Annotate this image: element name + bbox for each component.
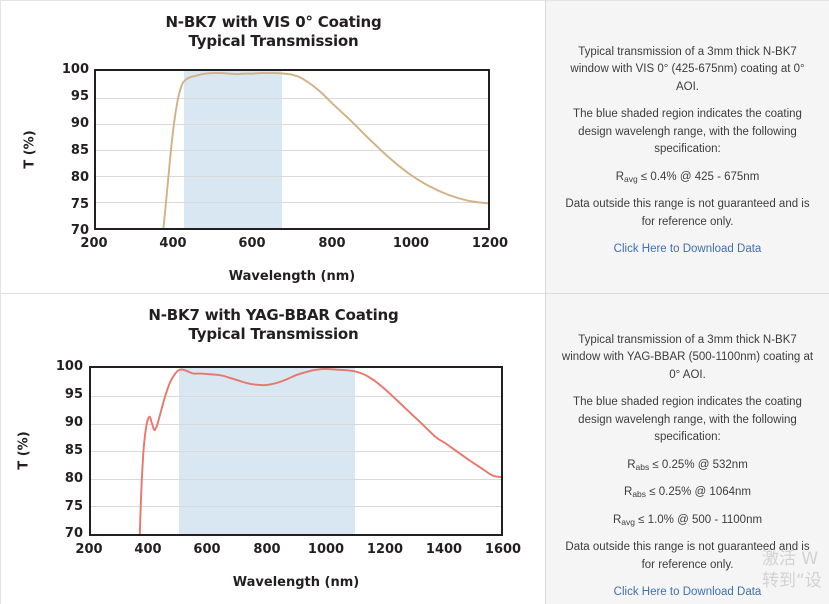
x-axis-label: Wavelength (nm) [89,575,503,590]
description-paragraph-3: Data outside this range is not guarantee… [560,539,815,574]
spec-subscript: avg [621,517,635,527]
xtick-label: 1200 [460,236,520,251]
xtick-label: 1000 [296,542,356,557]
chart-panel-vis: N-BK7 with VIS 0° Coating Typical Transm… [0,0,545,293]
xtick-label: 1200 [355,542,415,557]
spec-symbol: R [613,514,621,526]
spec-line: Rabs ≤ 0.25% @ 532nm [560,457,815,474]
description-paragraph-1: Typical transmission of a 3mm thick N-BK… [560,332,815,384]
spec-block: Rabs ≤ 0.25% @ 532nm Rabs ≤ 0.25% @ 1064… [560,457,815,529]
transmission-curve-vis [96,71,488,228]
y-axis-label: T (%) [23,120,38,180]
description-paragraph-1: Typical transmission of a 3mm thick N-BK… [560,44,815,96]
ytick-label: 85 [43,443,83,458]
xtick-label: 600 [222,236,282,251]
xtick-label: 1400 [414,542,474,557]
plot-area-vis [94,69,490,230]
spec-symbol: R [616,171,624,183]
ytick-label: 100 [43,359,83,374]
description-panel-yag: Typical transmission of a 3mm thick N-BK… [545,293,829,604]
ytick-label: 70 [43,526,83,541]
ytick-label: 100 [49,62,89,77]
chart-title-line1: N-BK7 with VIS 0° Coating [1,13,546,32]
spec-line: Rabs ≤ 0.25% @ 1064nm [560,484,815,501]
ytick-label: 90 [49,116,89,131]
spec-value: ≤ 0.4% @ 425 - 675nm [638,171,760,183]
xtick-label: 400 [143,236,203,251]
spec-value: ≤ 0.25% @ 532nm [649,459,748,471]
xtick-label: 400 [118,542,178,557]
chart-title-line1: N-BK7 with YAG-BBAR Coating [1,306,546,325]
ytick-label: 95 [49,89,89,104]
ytick-label: 95 [43,387,83,402]
panel-row-vis: N-BK7 with VIS 0° Coating Typical Transm… [0,0,829,293]
chart-title-yag: N-BK7 with YAG-BBAR Coating Typical Tran… [1,306,546,344]
spec-line: Ravg ≤ 1.0% @ 500 - 1100nm [560,512,815,529]
ytick-label: 90 [43,415,83,430]
spec-line: Ravg ≤ 0.4% @ 425 - 675nm [560,169,815,186]
xtick-label: 600 [177,542,237,557]
spec-value: ≤ 1.0% @ 500 - 1100nm [635,514,762,526]
chart-title-line2: Typical Transmission [1,325,546,344]
spec-value: ≤ 0.25% @ 1064nm [646,486,751,498]
download-data-link[interactable]: Click Here to Download Data [614,586,762,598]
description-paragraph-2: The blue shaded region indicates the coa… [560,106,815,158]
panel-row-yag: N-BK7 with YAG-BBAR Coating Typical Tran… [0,293,829,604]
spec-block: Ravg ≤ 0.4% @ 425 - 675nm [560,169,815,186]
ytick-label: 75 [43,499,83,514]
xtick-label: 1600 [473,542,533,557]
description-paragraph-3: Data outside this range is not guarantee… [560,196,815,231]
chart-panel-yag: N-BK7 with YAG-BBAR Coating Typical Tran… [0,293,545,604]
description-text-vis: Typical transmission of a 3mm thick N-BK… [560,44,815,259]
xtick-label: 200 [59,542,119,557]
xtick-label: 200 [64,236,124,251]
ytick-label: 80 [49,170,89,185]
description-panel-vis: Typical transmission of a 3mm thick N-BK… [545,0,829,293]
download-data-link[interactable]: Click Here to Download Data [614,243,762,255]
ytick-label: 75 [49,197,89,212]
spec-subscript: abs [636,462,650,472]
chart-title-line2: Typical Transmission [1,32,546,51]
ytick-label: 80 [43,471,83,486]
ytick-label: 85 [49,143,89,158]
description-text-yag: Typical transmission of a 3mm thick N-BK… [560,332,815,602]
spec-subscript: abs [632,489,646,499]
y-axis-label: T (%) [17,421,32,481]
x-axis-label: Wavelength (nm) [94,269,490,284]
plot-area-yag [89,366,503,536]
spec-symbol: R [627,459,635,471]
transmission-curves-page: N-BK7 with VIS 0° Coating Typical Transm… [0,0,829,604]
description-paragraph-2: The blue shaded region indicates the coa… [560,394,815,446]
chart-title-vis: N-BK7 with VIS 0° Coating Typical Transm… [1,13,546,51]
xtick-label: 1000 [381,236,441,251]
xtick-label: 800 [302,236,362,251]
spec-subscript: avg [624,174,638,184]
xtick-label: 800 [237,542,297,557]
transmission-curve-yag [91,368,501,534]
